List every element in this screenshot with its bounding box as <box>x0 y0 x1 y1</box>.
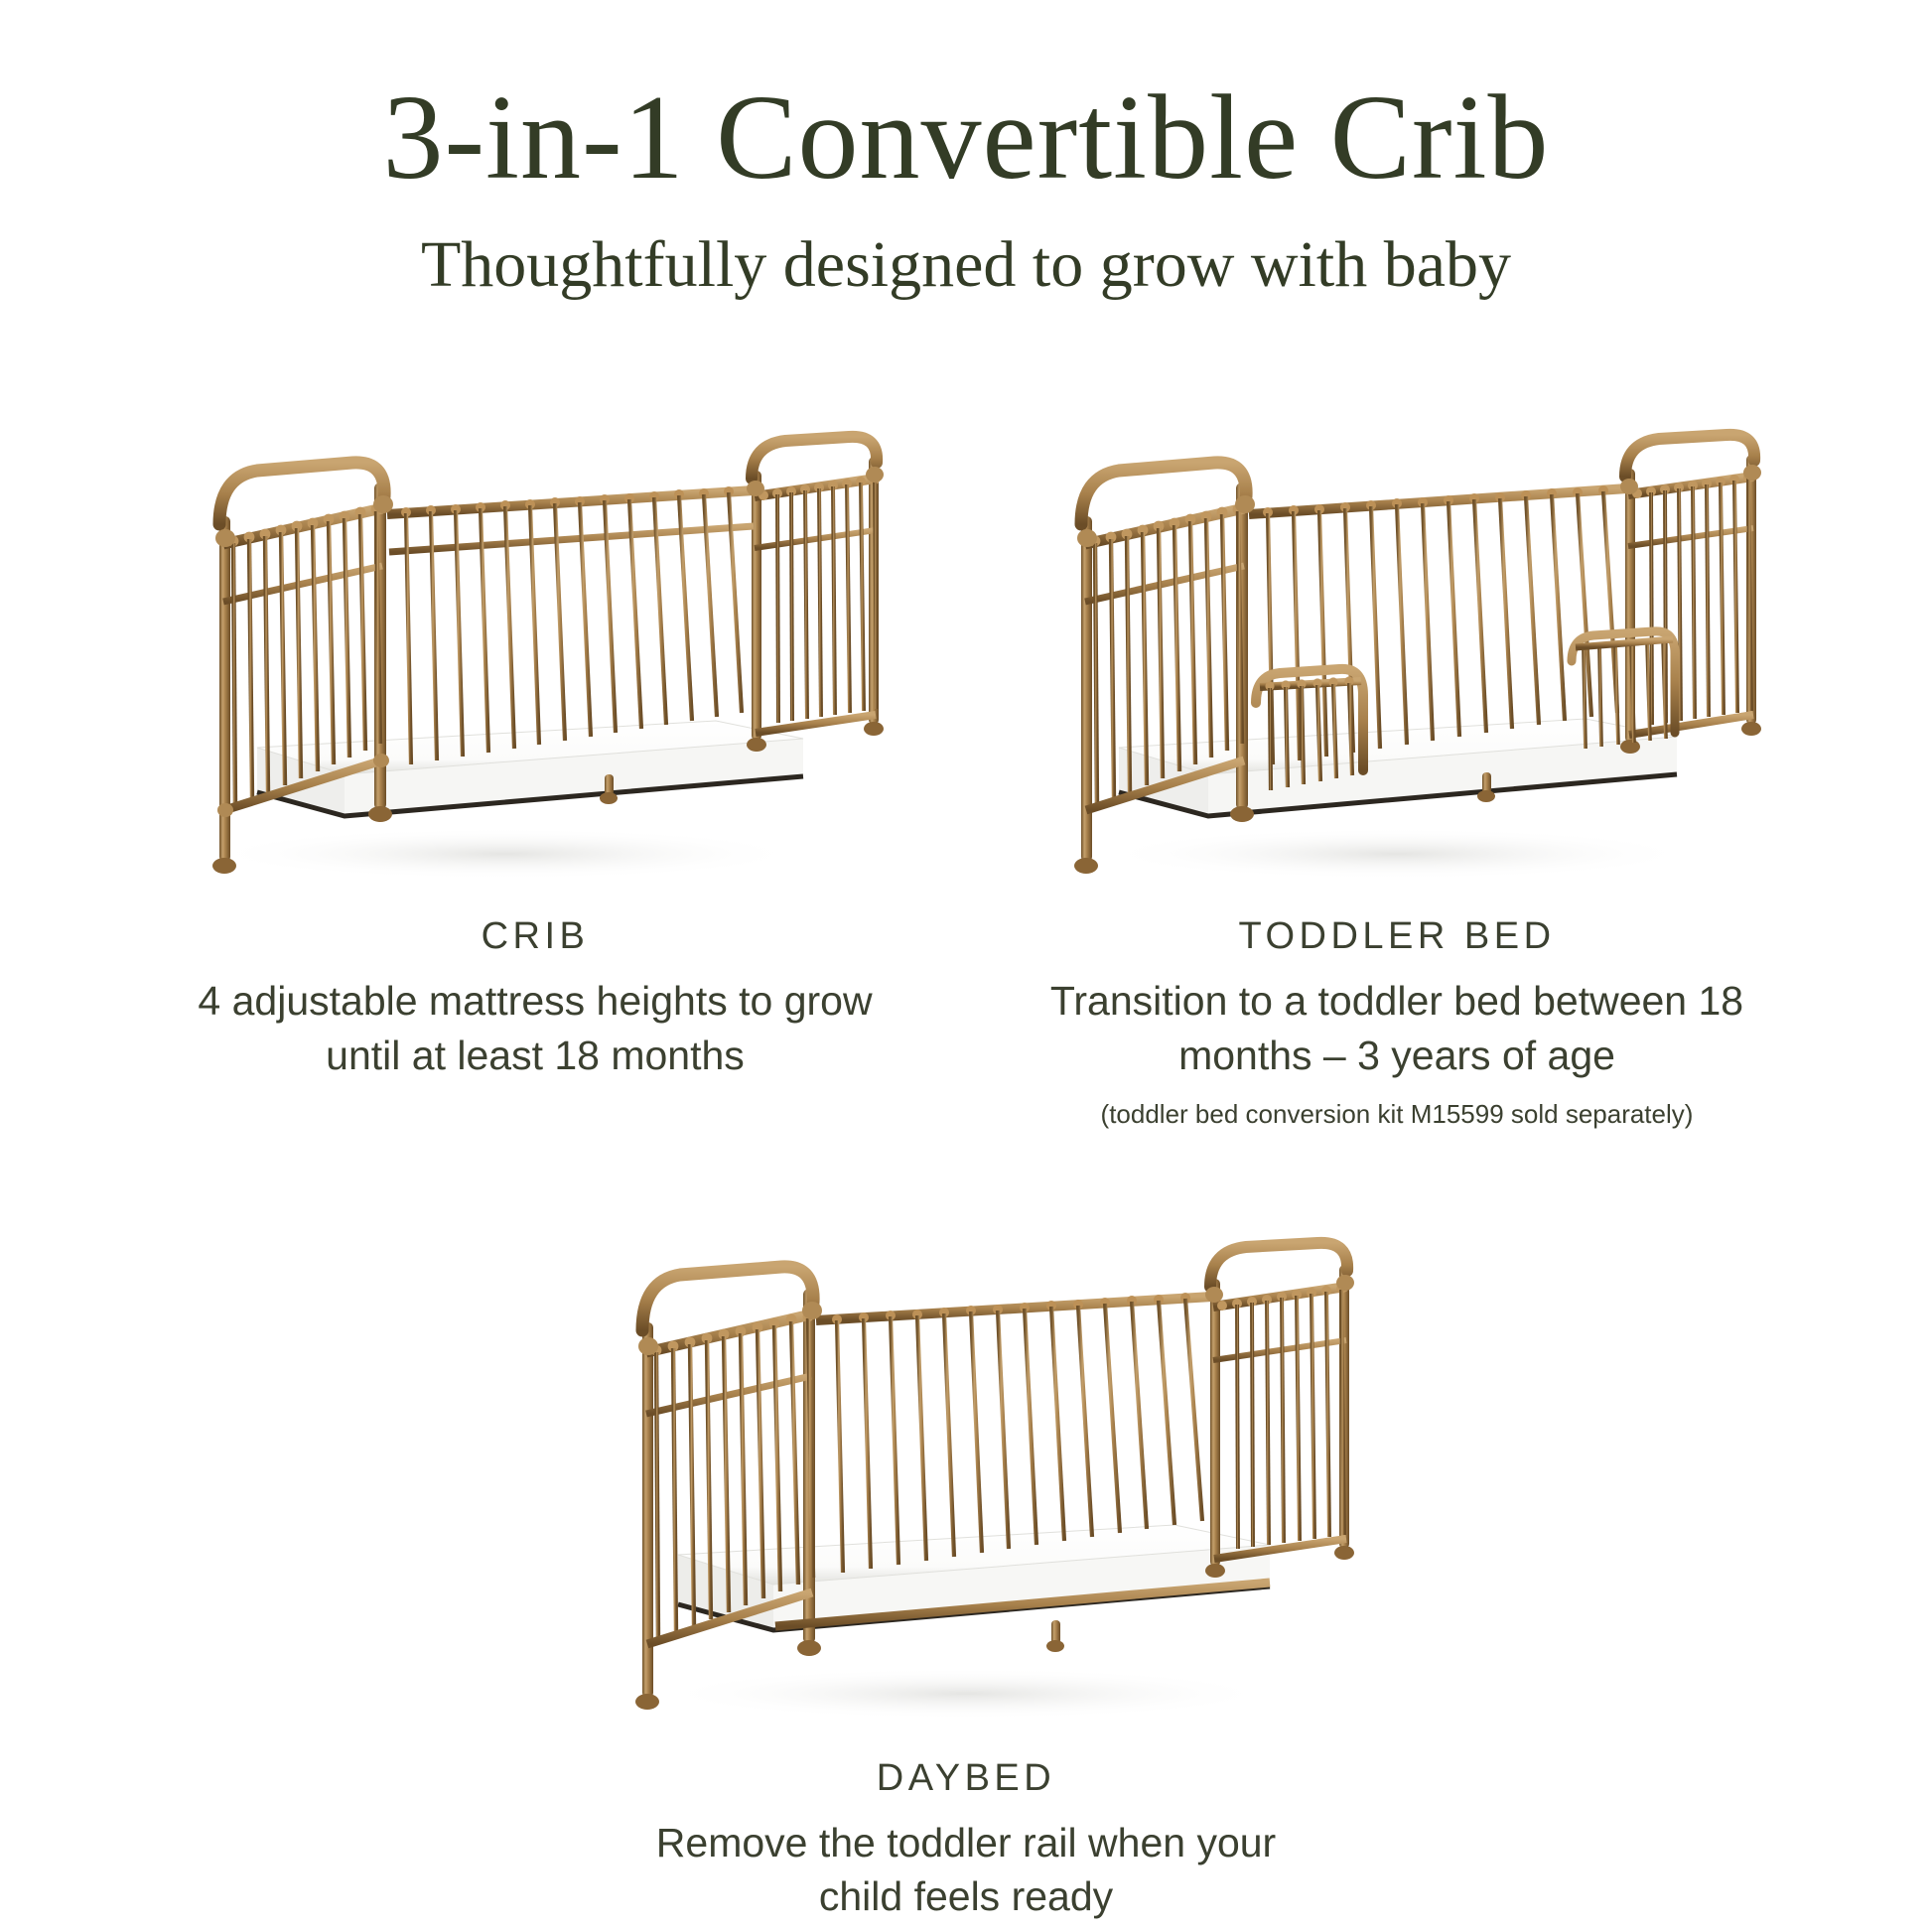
modes-row-bottom: DAYBED Remove the toddler rail when your… <box>0 1227 1932 1924</box>
mode-toddler-bed: TODDLER BED Transition to a toddler bed … <box>966 405 1828 1132</box>
mode-description-toddler-bed: Transition to a toddler bed between 18 m… <box>1039 974 1754 1082</box>
mode-daybed: DAYBED Remove the toddler rail when your… <box>535 1227 1397 1924</box>
mode-label-daybed: DAYBED <box>877 1757 1055 1800</box>
header: 3-in-1 Convertible Crib Thoughtfully des… <box>0 0 1932 298</box>
infographic-page: 3-in-1 Convertible Crib Thoughtfully des… <box>0 0 1932 1932</box>
crib-illustration <box>108 405 962 901</box>
daybed-illustration <box>539 1227 1393 1743</box>
toddler-bed-illustration <box>970 405 1824 901</box>
mode-label-crib: CRIB <box>482 915 590 958</box>
mode-description-crib: 4 adjustable mattress heights to grow un… <box>178 974 893 1082</box>
modes-row-top: CRIB 4 adjustable mattress heights to gr… <box>0 405 1932 1132</box>
conversion-modes: CRIB 4 adjustable mattress heights to gr… <box>0 405 1932 1924</box>
mode-label-toddler-bed: TODDLER BED <box>1238 915 1555 958</box>
mode-description-daybed: Remove the toddler rail when your child … <box>609 1816 1323 1924</box>
mode-note-toddler-bed: (toddler bed conversion kit M15599 sold … <box>1101 1098 1694 1132</box>
mode-crib: CRIB 4 adjustable mattress heights to gr… <box>104 405 966 1082</box>
page-title: 3-in-1 Convertible Crib <box>0 77 1932 199</box>
page-subtitle: Thoughtfully designed to grow with baby <box>0 199 1932 298</box>
